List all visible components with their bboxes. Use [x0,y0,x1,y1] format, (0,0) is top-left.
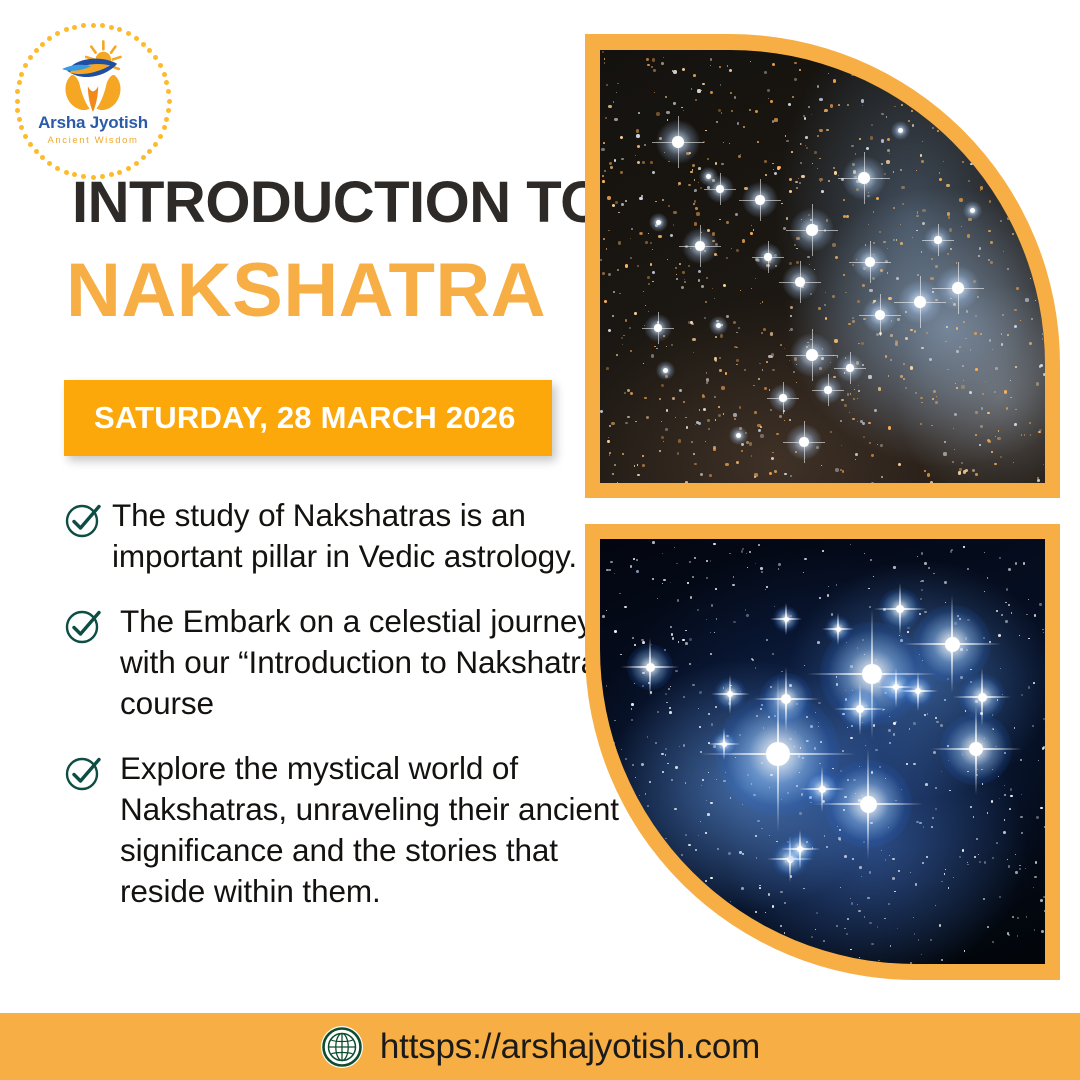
poster-canvas: Arsha Jyotish Ancient Wisdom INTRODUCTIO… [0,0,1080,1080]
list-item: The study of Nakshatras is an important … [62,495,622,577]
list-item-label: Explore the mystical world of Nakshatras… [112,748,622,912]
page-title-line1: INTRODUCTION TO [72,174,605,232]
star-field [600,50,1045,483]
website-url[interactable]: httsps://arshajyotish.com [380,1027,760,1067]
list-item-label: The study of Nakshatras is an important … [112,495,622,577]
pleiades-blue-star-cluster-photo [585,524,1060,980]
logo-brand-name: Arsha Jyotish [38,114,148,131]
logo-tagline: Ancient Wisdom [47,136,138,146]
footer-bar: httsps://arshajyotish.com [0,1013,1080,1080]
circle-check-icon [62,499,104,541]
circle-check-icon [62,752,104,794]
list-item-label: The Embark on a celestial journey with o… [112,601,622,724]
date-banner: SATURDAY, 28 MARCH 2026 [64,380,552,456]
feature-bullet-list: The study of Nakshatras is an important … [62,495,622,935]
list-item: The Embark on a celestial journey with o… [62,601,622,724]
page-title-line2: NAKSHATRA [66,253,546,329]
star-field [600,539,1045,964]
star-cluster-nebula-photo [585,34,1060,498]
sun-hands-logo-icon [50,38,136,112]
brand-logo: Arsha Jyotish Ancient Wisdom [14,22,172,180]
list-item: Explore the mystical world of Nakshatras… [62,748,622,912]
circle-check-icon [62,605,104,647]
globe-icon [320,1025,364,1069]
event-date-text: SATURDAY, 28 MARCH 2026 [94,400,516,436]
